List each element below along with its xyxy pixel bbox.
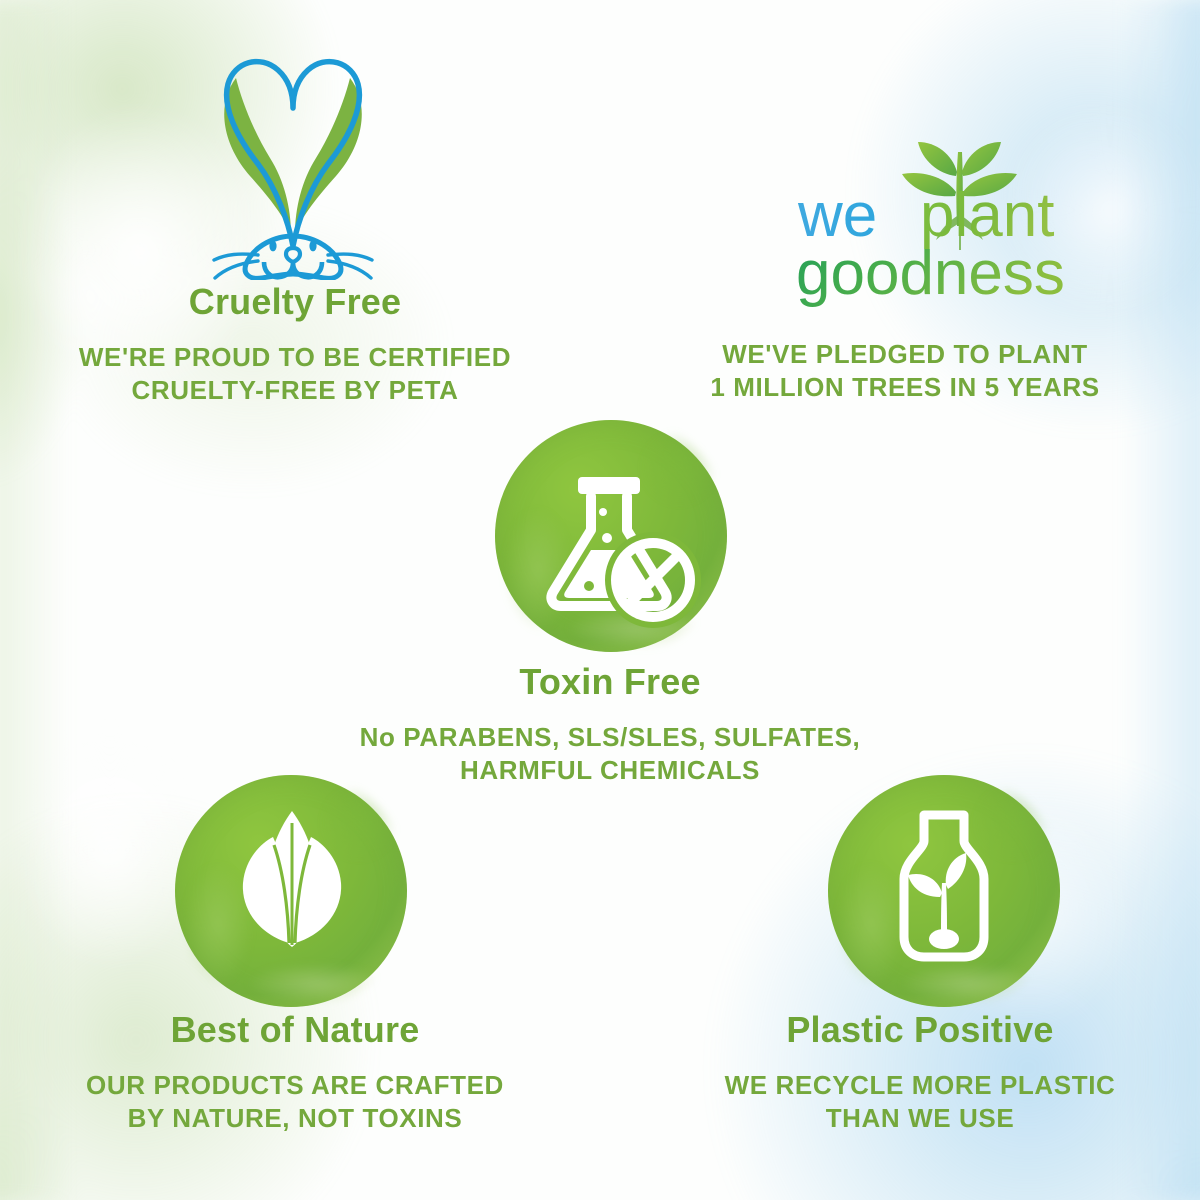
infographic-canvas: Cruelty Free WE'RE PROUD TO BE CERTIFIED… xyxy=(0,0,1200,1200)
feature-title-plastic-positive: Plastic Positive xyxy=(640,1008,1200,1052)
feature-toxin-free-text: Toxin Free No PARABENS, SLS/SLES, SULFAT… xyxy=(310,660,910,787)
feature-badge-toxin-free xyxy=(495,420,727,652)
feature-subline-toxin-free-1: No PARABENS, SLS/SLES, SULFATES, xyxy=(310,721,910,754)
feature-subline-cruelty-free-1: WE'RE PROUD TO BE CERTIFIED xyxy=(0,341,590,374)
feature-title-toxin-free: Toxin Free xyxy=(310,660,910,704)
bunny-heart-icon xyxy=(188,40,398,280)
feature-subline-best-of-nature-1: OUR PRODUCTS ARE CRAFTED xyxy=(0,1069,590,1102)
feature-subline-cruelty-free-2: CRUELTY-FREE BY PETA xyxy=(0,374,590,407)
feature-title-cruelty-free: Cruelty Free xyxy=(0,280,590,324)
feature-subline-plastic-positive-1: WE RECYCLE MORE PLASTIC xyxy=(640,1069,1200,1102)
feature-badge-plastic-positive xyxy=(828,775,1060,1007)
feature-best-of-nature-text: Best of Nature OUR PRODUCTS ARE CRAFTED … xyxy=(0,1008,590,1135)
feature-we-plant-goodness-text: WE'VE PLEDGED TO PLANT 1 MILLION TREES I… xyxy=(610,338,1200,404)
flask-no-entry-icon xyxy=(495,420,727,652)
feature-subline-we-plant-goodness-2: 1 MILLION TREES IN 5 YEARS xyxy=(610,371,1200,404)
feature-cruelty-free-text: Cruelty Free WE'RE PROUD TO BE CERTIFIED… xyxy=(0,280,590,407)
feature-title-best-of-nature: Best of Nature xyxy=(0,1008,590,1052)
bottle-sprout-icon xyxy=(828,775,1060,1007)
logo-word-goodness: goodness xyxy=(796,239,1065,308)
feature-subline-best-of-nature-2: BY NATURE, NOT TOXINS xyxy=(0,1102,590,1135)
feature-badge-best-of-nature xyxy=(175,775,407,1007)
feature-subline-we-plant-goodness-1: WE'VE PLEDGED TO PLANT xyxy=(610,338,1200,371)
feature-plastic-positive-text: Plastic Positive WE RECYCLE MORE PLASTIC… xyxy=(640,1008,1200,1135)
three-leaves-icon xyxy=(175,775,407,1007)
we-plant-goodness-logo: we plant goodness xyxy=(790,130,1120,310)
feature-subline-plastic-positive-2: THAN WE USE xyxy=(640,1102,1200,1135)
